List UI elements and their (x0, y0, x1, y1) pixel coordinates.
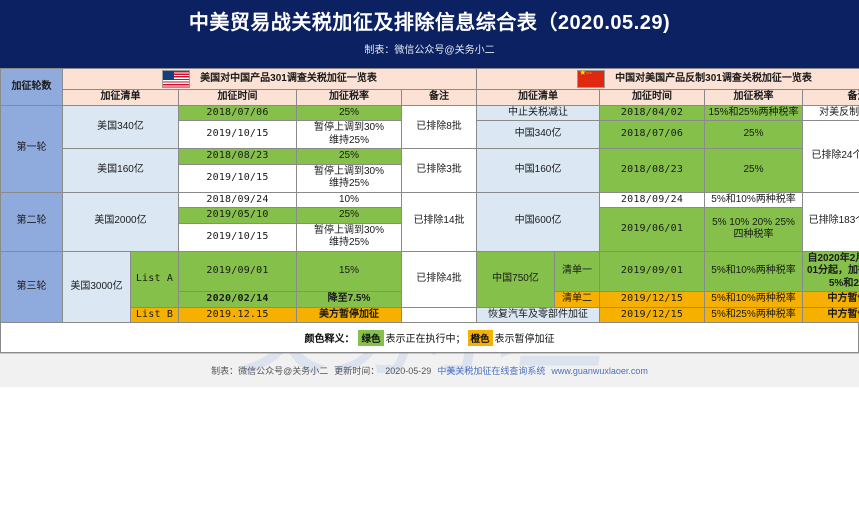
us-r3a-rate-2: 降至7.5% (297, 292, 402, 308)
us-r3-sublist-a: List A (131, 251, 179, 307)
us-r1b-remark: 已排除3批 (402, 149, 477, 193)
cn-r3-sublist-a: 清单一 (555, 251, 600, 292)
us-r3a-rate-1: 15% (297, 251, 402, 292)
legend-green-text: 表示正在执行中； (386, 330, 466, 345)
cn-r1-list-3: 中国160亿 (477, 149, 600, 193)
cn-r3a-time: 2019/09/01 (600, 251, 705, 292)
header-us-band-label: 美国对中国产品301调查关税加征一览表 (200, 73, 377, 86)
cn-r1-rate-1: 15%和25%两种税率 (705, 105, 803, 121)
header-cn-rate: 加征税率 (705, 90, 803, 106)
cn-r1-rate-3: 25% (705, 149, 803, 193)
us-r3-list: 美国3000亿 (63, 251, 131, 323)
header-us-time: 加征时间 (179, 90, 297, 106)
header-cn-list: 加征清单 (477, 90, 600, 106)
footer-updated-value: 2020-05-29 (385, 366, 431, 376)
us-r1a-remark: 已排除8批 (402, 105, 477, 149)
footer-author: 制表：微信公众号@关务小二 (211, 364, 328, 377)
cn-r2-time-2: 2019/06/01 (600, 208, 705, 252)
us-r2-rate-1: 10% (297, 192, 402, 208)
cn-r3b-remark: 中方暂停加征 (803, 292, 859, 308)
us-r3b-remark (402, 307, 477, 323)
table-container: 关务小二 加征轮数 美国对中国产品301调查关税加征一览表 (0, 68, 859, 353)
cn-r3b-rate: 5%和10%两种税率 (705, 292, 803, 308)
us-r1b-rate-1: 25% (297, 149, 402, 165)
us-r3a-time-1: 2019/09/01 (179, 251, 297, 292)
table-row: 美国160亿 2018/08/23 25% 已排除3批 中国160亿 2018/… (1, 149, 859, 165)
title-banner: 中美贸易战关税加征及排除信息综合表（2020.05.29) 制表：微信公众号@关… (0, 0, 859, 68)
cn-r1-rate-2: 25% (705, 121, 803, 149)
us-r3-sublist-b: List B (131, 307, 179, 323)
cn-r2-remark: 已排除183个10位编码 (803, 192, 859, 251)
footer-updated-label: 更新时间： (334, 364, 379, 377)
us-r1b-time-1: 2018/08/23 (179, 149, 297, 165)
cn-r2-rate-1: 5%和10%两种税率 (705, 192, 803, 208)
cn-r1-list-2: 中国340亿 (477, 121, 600, 149)
cn-r1-time-2: 2018/07/06 (600, 121, 705, 149)
cn-r3a-remark: 自2020年2月14日13时01分起，加征税率降至5%和2.5%。 (803, 251, 859, 292)
cn-r1-time-1: 2018/04/02 (600, 105, 705, 121)
cn-r2-time-1: 2018/09/24 (600, 192, 705, 208)
cn-r2-list: 中国600亿 (477, 192, 600, 251)
cn-r1-time-3: 2018/08/23 (600, 149, 705, 193)
cn-r3-list-auto: 恢复汽车及零部件加征 (477, 307, 600, 323)
legend-label: 颜色释义： (304, 330, 354, 345)
table-header-columns: 加征清单 加征时间 加征税率 备注 加征清单 加征时间 加征税率 备注 (1, 90, 859, 106)
page-title: 中美贸易战关税加征及排除信息综合表（2020.05.29) (189, 12, 670, 34)
us-r3b-rate: 美方暂停加征 (297, 307, 402, 323)
legend-green-chip: 绿色 (358, 330, 383, 346)
table-row: 第一轮 美国340亿 2018/07/06 25% 已排除8批 中止关税减让 2… (1, 105, 859, 121)
us-r2-time-1: 2018/09/24 (179, 192, 297, 208)
cn-r3b-time: 2019/12/15 (600, 292, 705, 308)
cn-r3auto-remark: 中方暂停加征 (803, 307, 859, 323)
color-legend: 颜色释义： 绿色 表示正在执行中； 橙色 表示暂停加征 (0, 323, 859, 353)
cn-r2-rate-2: 5% 10% 20% 25% 四种税率 (705, 208, 803, 252)
header-cn-remark: 备注 (803, 90, 859, 106)
us-r1a-time-2: 2019/10/15 (179, 121, 297, 149)
cn-r3auto-rate: 5%和25%两种税率 (705, 307, 803, 323)
header-round: 加征轮数 (1, 69, 63, 106)
header-cn-band-label: 中国对美国产品反制301调查关税加征一览表 (615, 73, 812, 86)
round-3-label: 第三轮 (1, 251, 63, 323)
us-r2-remark: 已排除14批 (402, 192, 477, 251)
page-root: 中美贸易战关税加征及排除信息综合表（2020.05.29) 制表：微信公众号@关… (0, 0, 859, 510)
header-us-rate: 加征税率 (297, 90, 402, 106)
us-r2-list: 美国2000亿 (63, 192, 179, 251)
us-r1b-time-2: 2019/10/15 (179, 164, 297, 192)
cn-r1-remark-1: 对美反制232措施 (803, 105, 859, 121)
header-us-list: 加征清单 (63, 90, 179, 106)
header-cn-time: 加征时间 (600, 90, 705, 106)
us-r1a-time-1: 2018/07/06 (179, 105, 297, 121)
footer-system-link[interactable]: 中美关税加征在线查询系统 (437, 364, 545, 377)
us-r1b-rate-2: 暂停上调到30% 维持25% (297, 164, 402, 192)
round-1-label: 第一轮 (1, 105, 63, 192)
us-r3a-remark: 已排除4批 (402, 251, 477, 307)
us-flag-icon (162, 70, 190, 88)
us-r1-list-b: 美国160亿 (63, 149, 179, 193)
table-header-band: 加征轮数 美国对中国产品301调查关税加征一览表 中国对美国产品反制301调查关… (1, 69, 859, 90)
header-us-band: 美国对中国产品301调查关税加征一览表 (63, 69, 477, 90)
us-r2-time-3: 2019/10/15 (179, 223, 297, 251)
us-r1-list-a: 美国340亿 (63, 105, 179, 149)
page-footer: 制表：微信公众号@关务小二 更新时间： 2020-05-29 中美关税加征在线查… (0, 353, 859, 387)
table-row: 第三轮 美国3000亿 List A 2019/09/01 15% 已排除4批 … (1, 251, 859, 292)
round-2-label: 第二轮 (1, 192, 63, 251)
cn-r1-remark-merged: 已排除24个10位编码 (803, 121, 859, 193)
us-r3b-time: 2019.12.15 (179, 307, 297, 323)
us-r1a-rate-1: 25% (297, 105, 402, 121)
us-r1a-rate-2: 暂停上调到30% 维持25% (297, 121, 402, 149)
cn-r3-sublist-b: 清单二 (555, 292, 600, 308)
header-us-remark: 备注 (402, 90, 477, 106)
us-r2-time-2: 2019/05/10 (179, 208, 297, 224)
header-cn-band: 中国对美国产品反制301调查关税加征一览表 (477, 69, 859, 90)
tariff-table: 加征轮数 美国对中国产品301调查关税加征一览表 中国对美国产品反制301调查关… (0, 68, 859, 323)
cn-r1-list-1: 中止关税减让 (477, 105, 600, 121)
legend-orange-text: 表示暂停加征 (495, 330, 555, 345)
cn-flag-icon (577, 70, 605, 88)
page-subtitle: 制表：微信公众号@关务小二 (364, 41, 494, 56)
us-r2-rate-2: 25% (297, 208, 402, 224)
cn-r3auto-time: 2019/12/15 (600, 307, 705, 323)
us-r3a-time-2: 2020/02/14 (179, 292, 297, 308)
cn-r3a-rate: 5%和10%两种税率 (705, 251, 803, 292)
footer-site-link[interactable]: www.guanwuxlaoer.com (551, 366, 648, 376)
cn-r3-list: 中国750亿 (477, 251, 555, 307)
table-row: 第二轮 美国2000亿 2018/09/24 10% 已排除14批 中国600亿… (1, 192, 859, 208)
legend-orange-chip: 橙色 (468, 330, 493, 346)
us-r2-rate-3: 暂停上调到30% 维持25% (297, 223, 402, 251)
